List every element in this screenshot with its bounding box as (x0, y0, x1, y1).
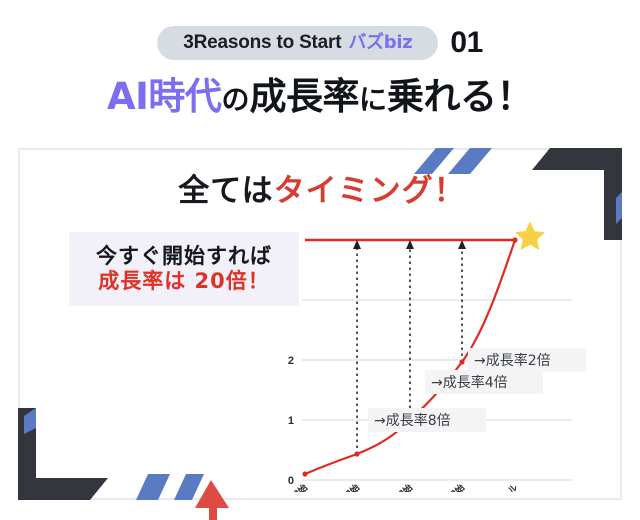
card-title-highlight: タイミング！ (274, 173, 466, 209)
diagonal-stripes-top-icon (414, 148, 504, 174)
callout-line-1: 今すぐ開始すれば (96, 246, 272, 267)
headline-mid: 成長率 (249, 75, 359, 118)
growth-chart: 0 1 2 (272, 222, 612, 492)
star-icon (515, 222, 545, 250)
x-tick-1: 3ヶ月後開始 (317, 482, 362, 492)
x-tick-3: 1年後開始 (429, 482, 467, 492)
pill-label-en: 3Reasons to Start (183, 33, 341, 52)
annotation-label-2x: →成長率2倍 (474, 352, 551, 369)
chart-annotation-4x: →成長率4倍 (425, 370, 543, 394)
curved-up-arrow-icon (173, 472, 253, 520)
page-title: AI時代の成長率に乗れる！ (0, 78, 640, 115)
chart-annotation-2x: →成長率2倍 (468, 348, 586, 372)
card-title: 全てはタイミング！ (20, 176, 624, 207)
corner-bracket-bottom-left-icon (18, 408, 136, 500)
slide-root: 3Reasons to Start バズbiz 01 AI時代の成長率に乗れる！ (0, 0, 640, 520)
badge-row: 3Reasons to Start バズbiz 01 (0, 26, 640, 60)
callout-box: 今すぐ開始すれば 成長率は 20倍！ (69, 232, 299, 306)
headline-particle-2: に (359, 83, 387, 116)
chart-annotation-8x: →成長率8倍 (368, 408, 486, 432)
x-tick-4: ゴール (493, 482, 521, 492)
headline-end: 乗れる！ (387, 75, 533, 118)
y-tick-2: 2 (288, 355, 294, 367)
chart-y-axis: 0 1 2 (288, 355, 294, 487)
x-tick-2: 6ヶ月後開始 (370, 482, 415, 492)
card-title-dark: 全ては (178, 173, 273, 209)
pill-label-brand: バズbiz (348, 34, 412, 52)
content-card: 全てはタイミング！ 今すぐ開始すれば 成長率は 20倍！ (18, 148, 622, 500)
annotation-label-4x: →成長率4倍 (431, 374, 508, 391)
callout-line-2: 成長率は 20倍！ (98, 271, 270, 292)
y-tick-0: 0 (288, 475, 294, 487)
brand-pill: 3Reasons to Start バズbiz (157, 26, 438, 60)
header: 3Reasons to Start バズbiz 01 AI時代の成長率に乗れる！ (0, 0, 640, 140)
section-number: 01 (450, 28, 482, 58)
y-tick-1: 1 (288, 415, 294, 427)
annotation-label-8x: →成長率8倍 (374, 412, 451, 429)
chart-x-axis: 今すぐ開始 3ヶ月後開始 6ヶ月後開始 1年後開始 ゴール (272, 482, 520, 492)
headline-accent: AI時代 (107, 75, 221, 118)
headline-particle-1: の (221, 83, 249, 116)
